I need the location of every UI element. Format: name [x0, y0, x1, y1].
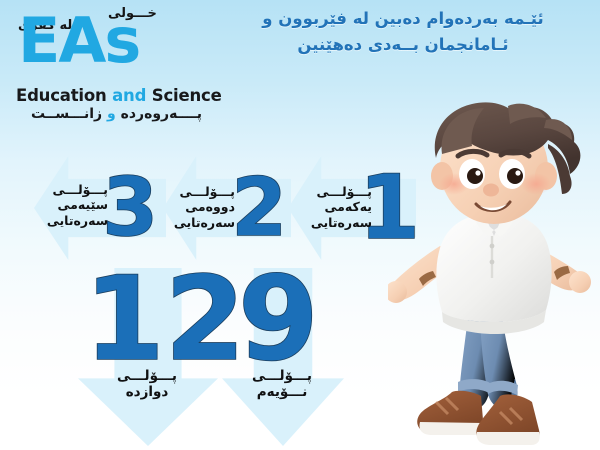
grade-label-1-line-1: پـــۆلـــی: [311, 184, 372, 199]
grade-label-3: پـــۆلـــی سێیه‌می سه‌ره‌تایی: [47, 182, 108, 228]
grade-label-3-line-2: سێیه‌می: [47, 197, 108, 212]
grade-number-2: 2: [231, 168, 287, 248]
logo-kurdish-tagline: پــــه‌روه‌رده و زانـــســت: [14, 106, 219, 122]
logo-kurdish-part1: پــــه‌روه‌رده: [121, 106, 202, 122]
grade-label-2-line-3: سه‌ره‌تایی: [174, 215, 235, 230]
grade-label-2: پـــۆلـــی دووه‌می سه‌ره‌تایی: [174, 184, 235, 230]
logo-english-part1: Education: [16, 86, 112, 105]
cartoon-boy-illustration: [388, 96, 600, 450]
logo-english-part2: Science: [146, 86, 221, 105]
shirt: [436, 211, 551, 334]
poster-canvas: له‌ كفری خـــولی EAs Education and Scien…: [0, 0, 600, 450]
grade-number-9: 9: [238, 262, 319, 378]
logo-english-tagline: Education and Science: [16, 86, 222, 105]
logo-kurdish-part2: زانـــســت: [31, 106, 102, 122]
grade-arrow-3[interactable]: 3 پـــۆلـــی سێیه‌می سه‌ره‌تایی: [34, 156, 166, 260]
shoes: [417, 391, 539, 445]
grade-arrow-2[interactable]: 2 پـــۆلـــی دووه‌می سه‌ره‌تایی: [163, 156, 291, 260]
grade-label-9-line-1: پـــۆلـــی: [226, 368, 338, 384]
grade-label-9-line-2: نـــۆیه‌م: [226, 384, 338, 400]
logo-top-row: له‌ كفری خـــولی EAs: [8, 4, 223, 88]
grade-label-1: پـــۆلـــی یه‌كه‌می سه‌ره‌تایی: [311, 184, 372, 230]
grade-label-2-line-2: دووه‌می: [174, 199, 235, 214]
grade-label-1-line-2: یه‌كه‌می: [311, 199, 372, 214]
grade-label-9: پـــۆلـــی نـــۆیه‌م: [226, 368, 338, 401]
grade-arrow-12[interactable]: 12 پـــۆلـــی دوازده: [78, 268, 218, 446]
logo-wordmark: EAs: [18, 12, 139, 69]
logo-kurdish-accent: و: [107, 106, 116, 122]
grade-label-2-line-1: پـــۆلـــی: [174, 184, 235, 199]
grade-label-3-line-3: سه‌ره‌تایی: [47, 213, 108, 228]
head: [431, 102, 580, 224]
headline: ئێـمه‌ به‌رده‌وام ده‌بین له‌ فێربوون و ئ…: [218, 6, 588, 57]
headline-line-1: ئێـمه‌ به‌رده‌وام ده‌بین له‌ فێربوون و: [218, 6, 588, 32]
grade-label-12-line-2: دوازده: [80, 384, 214, 400]
logo-english-accent: and: [112, 86, 146, 105]
grade-label-12: پـــۆلـــی دوازده: [80, 368, 214, 401]
grade-number-3: 3: [102, 168, 158, 248]
eas-logo[interactable]: له‌ كفری خـــولی EAs Education and Scien…: [8, 4, 223, 129]
grade-label-3-line-1: پـــۆلـــی: [47, 182, 108, 197]
headline-line-2: ئـامانجمان بــه‌دی ده‌هێنین: [218, 32, 588, 58]
grade-label-12-line-1: پـــۆلـــی: [80, 368, 214, 384]
grade-label-1-line-3: سه‌ره‌تایی: [311, 215, 372, 230]
grade-number-12: 12: [84, 262, 245, 378]
